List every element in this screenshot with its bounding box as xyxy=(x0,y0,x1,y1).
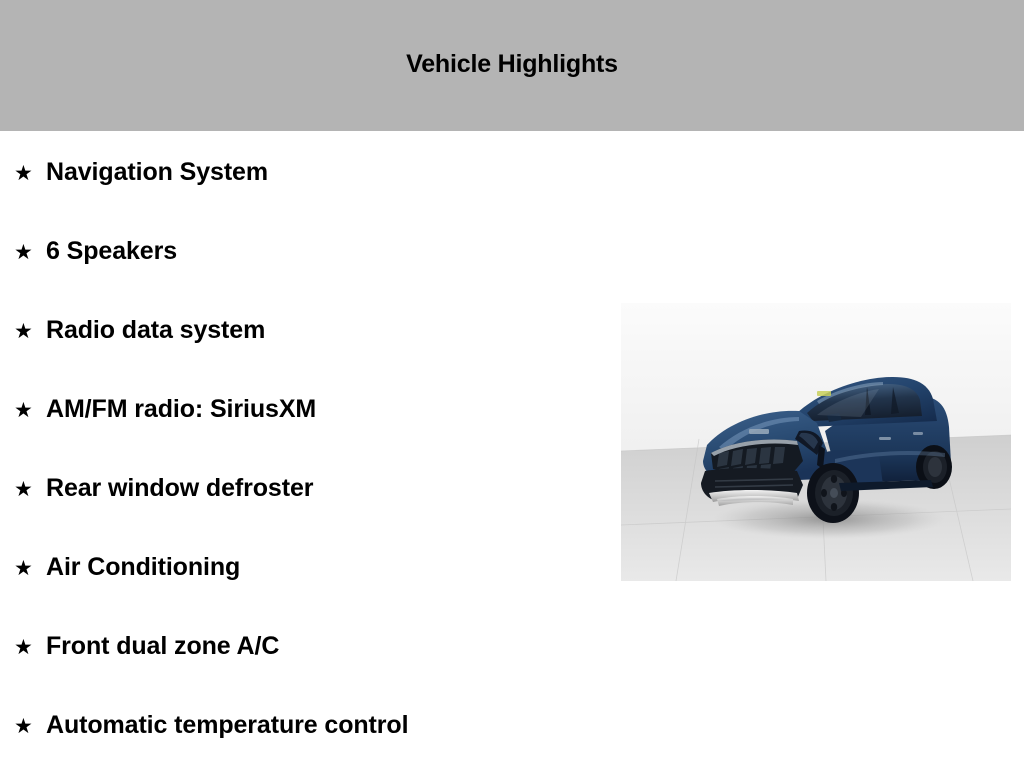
highlight-label: AM/FM radio: SiriusXM xyxy=(46,397,316,422)
star-bullet-icon: ★ xyxy=(14,558,46,579)
star-bullet-icon: ★ xyxy=(14,321,46,342)
header-banner: Vehicle Highlights xyxy=(0,0,1024,131)
highlight-label: 6 Speakers xyxy=(46,239,177,264)
page-title: Vehicle Highlights xyxy=(406,50,618,79)
highlight-label: Automatic temperature control xyxy=(46,713,408,738)
highlight-label: Rear window defroster xyxy=(46,476,313,501)
list-item: ★ Rear window defroster xyxy=(0,447,620,526)
list-item: ★ 6 Speakers xyxy=(0,210,620,289)
star-bullet-icon: ★ xyxy=(14,242,46,263)
list-item: ★ AM/FM radio: SiriusXM xyxy=(0,368,620,447)
highlight-label: Navigation System xyxy=(46,160,268,185)
vehicle-photo xyxy=(621,303,1011,581)
vehicle-highlights-list: ★ Navigation System ★ 6 Speakers ★ Radio… xyxy=(0,131,620,763)
vehicle-highlights-page: Vehicle Highlights ★ Navigation System ★… xyxy=(0,0,1024,768)
list-item: ★ Front dual zone A/C xyxy=(0,605,620,684)
star-bullet-icon: ★ xyxy=(14,400,46,421)
list-item: ★ Automatic temperature control xyxy=(0,684,620,763)
highlight-label: Front dual zone A/C xyxy=(46,634,279,659)
star-bullet-icon: ★ xyxy=(14,716,46,737)
list-item: ★ Radio data system xyxy=(0,289,620,368)
list-item: ★ Navigation System xyxy=(0,131,620,210)
star-bullet-icon: ★ xyxy=(14,479,46,500)
highlight-label: Radio data system xyxy=(46,318,265,343)
highlight-label: Air Conditioning xyxy=(46,555,240,580)
star-bullet-icon: ★ xyxy=(14,163,46,184)
list-item: ★ Air Conditioning xyxy=(0,526,620,605)
star-bullet-icon: ★ xyxy=(14,637,46,658)
vehicle-photo-image xyxy=(621,303,1011,581)
